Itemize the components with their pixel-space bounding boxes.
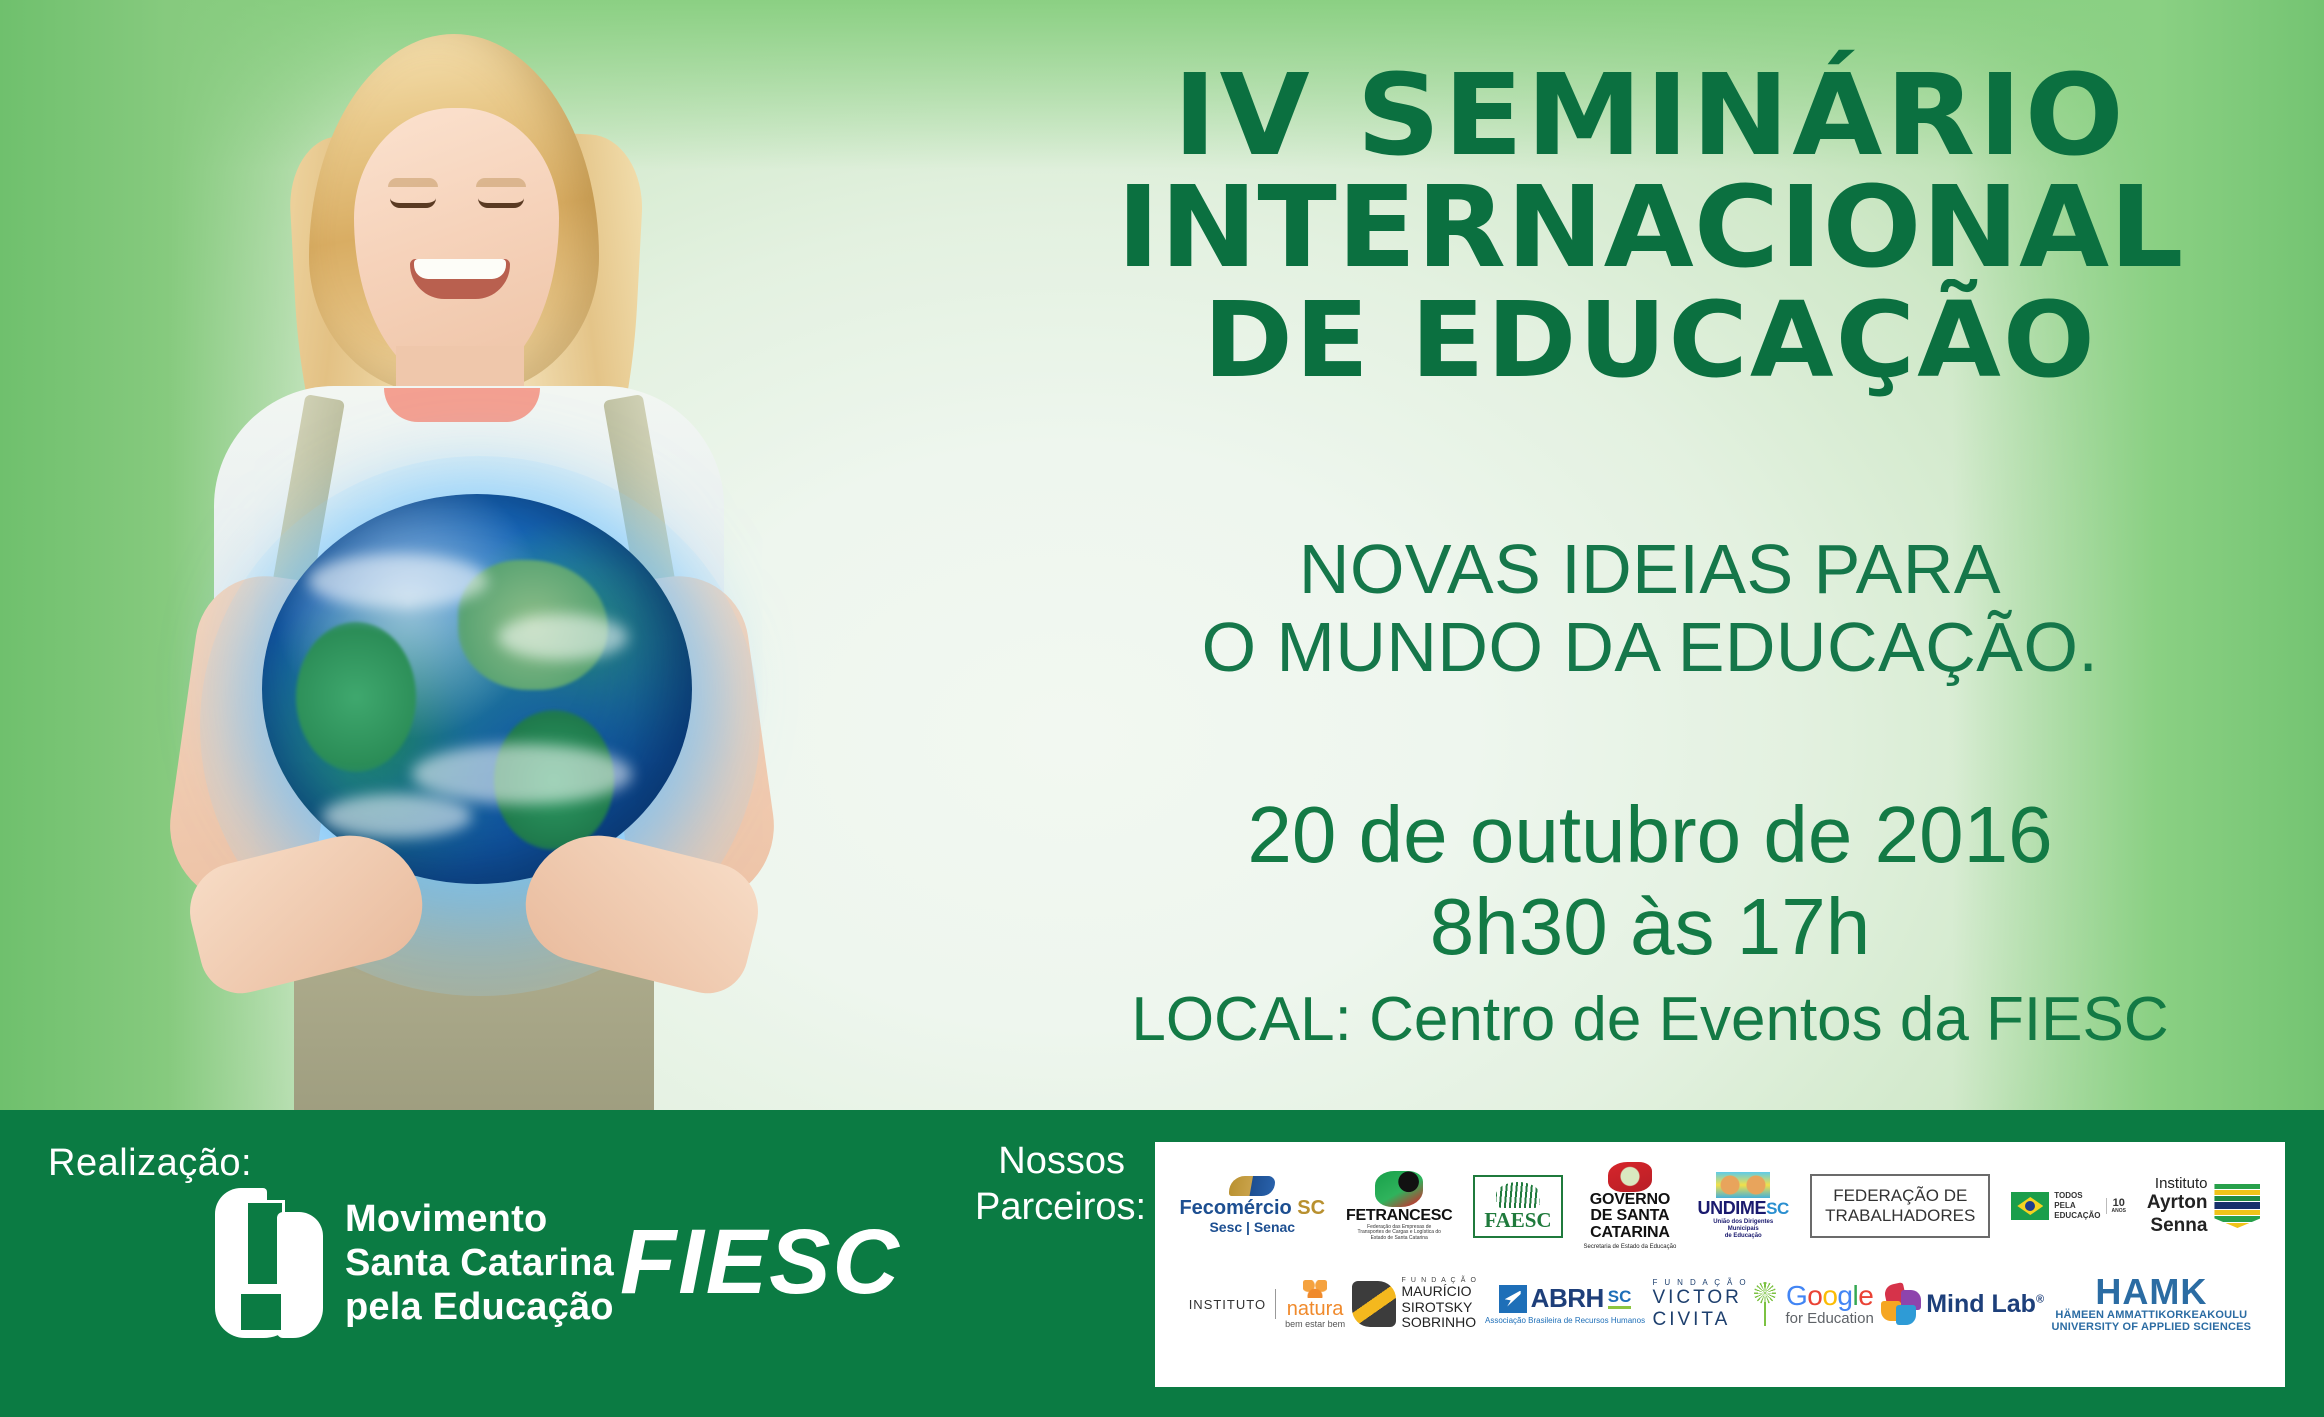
faesc-wheat-icon bbox=[1496, 1182, 1540, 1208]
fvc-eyebrow: F U N D A Ç Ã O bbox=[1652, 1278, 1748, 1287]
faesc-name: FAESC bbox=[1484, 1208, 1551, 1233]
hamk-subtitle-fi: HÄMEEN AMMATTIKORKEAKOULU bbox=[2055, 1309, 2247, 1321]
movimento-sc-book-icon bbox=[215, 1188, 323, 1338]
cloud-shape bbox=[498, 614, 628, 660]
poster-root: IV SEMINÁRIO INTERNACIONAL DE EDUCAÇÃO N… bbox=[0, 0, 2324, 1417]
eyebrow-left bbox=[388, 178, 438, 187]
abrh-subtitle: Associação Brasileira de Recursos Humano… bbox=[1485, 1316, 1645, 1325]
shirt-collar bbox=[384, 388, 540, 422]
title-line-3: DE EDUCAÇÃO bbox=[995, 288, 2305, 392]
realizacao-label: Realização: bbox=[48, 1142, 252, 1185]
fecomercio-name: Fecomércio SC bbox=[1179, 1198, 1325, 1218]
instituto-natura-prefix: INSTITUTO bbox=[1189, 1297, 1266, 1312]
todos-pela-educacao-name: TODOS PELA EDUCAÇÃO bbox=[2054, 1191, 2100, 1221]
partner-logo-faesc: FAESC bbox=[1473, 1175, 1562, 1238]
event-info: 20 de outubro de 2016 8h30 às 17h LOCAL:… bbox=[1020, 790, 2280, 1061]
partner-logo-fetrancesc: FETRANCESC Federação das Empresas de Tra… bbox=[1346, 1171, 1452, 1242]
organizer-line-3: pela Educação bbox=[345, 1285, 614, 1329]
girl-holding-globe-photo bbox=[96, 16, 836, 1126]
partners-row-bottom: INSTITUTO natura bem estar bem F U N D A… bbox=[1155, 1254, 2285, 1354]
hamk-subtitle-en: UNIVERSITY OF APPLIED SCIENCES bbox=[2051, 1321, 2251, 1333]
cloud-shape bbox=[322, 794, 472, 838]
undime-subtitle: União dos Dirigentes Municipais de Educa… bbox=[1697, 1219, 1789, 1241]
natura-subtitle: bem estar bem bbox=[1285, 1319, 1345, 1329]
victor-civita-dandelion-icon bbox=[1752, 1282, 1778, 1326]
partner-logo-google-for-education: Google for Education bbox=[1785, 1282, 1873, 1327]
subtitle: NOVAS IDEIAS PARA O MUNDO DA EDUCAÇÃO. bbox=[1020, 530, 2280, 687]
governo-sc-subtitle: Secretaria de Estado da Educação bbox=[1584, 1244, 1677, 1250]
organizer-line-1: Movimento bbox=[345, 1197, 614, 1241]
partner-logo-fecomercio-sc: Fecomércio SC Sesc | Senac bbox=[1179, 1176, 1325, 1236]
subtitle-line-1: NOVAS IDEIAS PARA bbox=[1020, 530, 2280, 608]
governo-sc-flag-icon bbox=[1608, 1162, 1652, 1192]
partner-logo-todos-pela-educacao: TODOS PELA EDUCAÇÃO 10ANOS bbox=[2011, 1191, 2126, 1221]
subtitle-line-2: O MUNDO DA EDUCAÇÃO. bbox=[1020, 608, 2280, 686]
event-location: LOCAL: Centro de Eventos da FIESC bbox=[1020, 980, 2280, 1061]
partner-logo-hamk: HAMK HÄMEEN AMMATTIKORKEAKOULU UNIVERSIT… bbox=[2051, 1275, 2251, 1333]
federacao-line-1: FEDERAÇÃO DE bbox=[1825, 1186, 1975, 1206]
cloud-shape bbox=[412, 744, 632, 804]
fms-name: MAURÍCIO SIROTSKY SOBRINHO bbox=[1401, 1284, 1477, 1331]
earth-globe bbox=[262, 494, 692, 884]
eyebrow-right bbox=[476, 178, 526, 187]
nossos-parceiros-line-1: Nossos bbox=[975, 1138, 1125, 1184]
abrh-name: ABRH bbox=[1531, 1283, 1604, 1314]
nossos-parceiros-label: Nossos Parceiros: bbox=[975, 1138, 1125, 1231]
abrh-sc-suffix: SC bbox=[1608, 1288, 1632, 1310]
event-date: 20 de outubro de 2016 bbox=[1020, 790, 2280, 880]
partner-logo-undime-sc: UNDIMESC União dos Dirigentes Municipais… bbox=[1697, 1172, 1789, 1241]
partners-panel: Fecomércio SC Sesc | Senac FETRANCESC Fe… bbox=[1155, 1142, 2285, 1387]
fetrancesc-map-icon bbox=[1375, 1171, 1423, 1207]
google-wordmark: Google bbox=[1786, 1282, 1873, 1310]
partner-logo-fundacao-victor-civita: F U N D A Ç Ã O VICTOR CIVITA bbox=[1652, 1278, 1778, 1330]
cloud-shape bbox=[308, 554, 488, 608]
partner-logo-instituto-ayrton-senna: Instituto Ayrton Senna bbox=[2147, 1175, 2261, 1238]
undime-name: UNDIMESC bbox=[1698, 1198, 1789, 1219]
partner-logo-federacao-trabalhadores: FEDERAÇÃO DE TRABALHADORES bbox=[1810, 1174, 1990, 1238]
fecomercio-leaf-icon bbox=[1229, 1176, 1275, 1196]
movimento-sc-logo: Movimento Santa Catarina pela Educação bbox=[215, 1188, 614, 1338]
governo-sc-name: GOVERNO DE SANTA CATARINA bbox=[1590, 1192, 1670, 1241]
eye-right bbox=[478, 198, 524, 208]
ayrton-senna-chevron-icon bbox=[2214, 1184, 2260, 1228]
mauricio-sirotsky-mark-icon bbox=[1352, 1281, 1396, 1327]
mind-lab-cubes-icon bbox=[1881, 1284, 1921, 1324]
page-title: IV SEMINÁRIO INTERNACIONAL DE EDUCAÇÃO bbox=[1020, 60, 2280, 392]
partners-row-top: Fecomércio SC Sesc | Senac FETRANCESC Fe… bbox=[1155, 1156, 2285, 1256]
hamk-name: HAMK bbox=[2095, 1275, 2207, 1309]
federacao-trabalhadores-frame: FEDERAÇÃO DE TRABALHADORES bbox=[1810, 1174, 1990, 1238]
partner-logo-governo-sc: GOVERNO DE SANTA CATARINA Secretaria de … bbox=[1584, 1162, 1677, 1250]
divider bbox=[1275, 1289, 1276, 1319]
fvc-name: VICTOR CIVITA bbox=[1652, 1287, 1748, 1330]
nossos-parceiros-line-2: Parceiros: bbox=[975, 1184, 1125, 1230]
ayrton-senna-name: Instituto Ayrton Senna bbox=[2147, 1175, 2208, 1238]
eye-left bbox=[390, 198, 436, 208]
fetrancesc-subtitle: Federação das Empresas de Transportes de… bbox=[1357, 1225, 1441, 1242]
partner-logo-abrh-sc: ABRH SC Associação Brasileira de Recurso… bbox=[1485, 1283, 1645, 1325]
continent-shape bbox=[296, 622, 416, 772]
undime-bowtie-icon bbox=[1716, 1172, 1770, 1198]
natura-name: natura bbox=[1285, 1299, 1345, 1319]
natura-flower-icon bbox=[1303, 1280, 1327, 1298]
organizer-line-2: Santa Catarina bbox=[345, 1241, 614, 1285]
abrh-arrow-icon bbox=[1499, 1285, 1527, 1313]
title-line-2: INTERNACIONAL bbox=[995, 172, 2305, 284]
faesc-frame: FAESC bbox=[1473, 1175, 1562, 1238]
fecomercio-subtitle: Sesc | Senac bbox=[1209, 1218, 1295, 1236]
google-for-education-subtitle: for Education bbox=[1785, 1310, 1873, 1327]
partner-logo-fundacao-mauricio-sirotsky-sobrinho: F U N D A Ç Ã O MAURÍCIO SIROTSKY SOBRIN… bbox=[1352, 1277, 1477, 1331]
todos-pela-educacao-flag-icon bbox=[2011, 1192, 2049, 1220]
todos-pela-educacao-anniversary-badge: 10ANOS bbox=[2106, 1198, 2126, 1214]
event-time: 8h30 às 17h bbox=[1020, 880, 2280, 974]
title-line-1: IV SEMINÁRIO bbox=[995, 60, 2305, 172]
fiesc-logo: FIESC bbox=[620, 1210, 901, 1315]
federacao-line-2: TRABALHADORES bbox=[1825, 1206, 1975, 1226]
movimento-sc-wordmark: Movimento Santa Catarina pela Educação bbox=[345, 1197, 614, 1329]
partner-logo-instituto-natura: INSTITUTO natura bem estar bem bbox=[1189, 1280, 1345, 1329]
teeth bbox=[414, 259, 506, 279]
mind-lab-name: Mind Lab® bbox=[1926, 1290, 2044, 1319]
partner-logo-mind-lab: Mind Lab® bbox=[1881, 1284, 2044, 1324]
fetrancesc-name: FETRANCESC bbox=[1346, 1207, 1452, 1225]
